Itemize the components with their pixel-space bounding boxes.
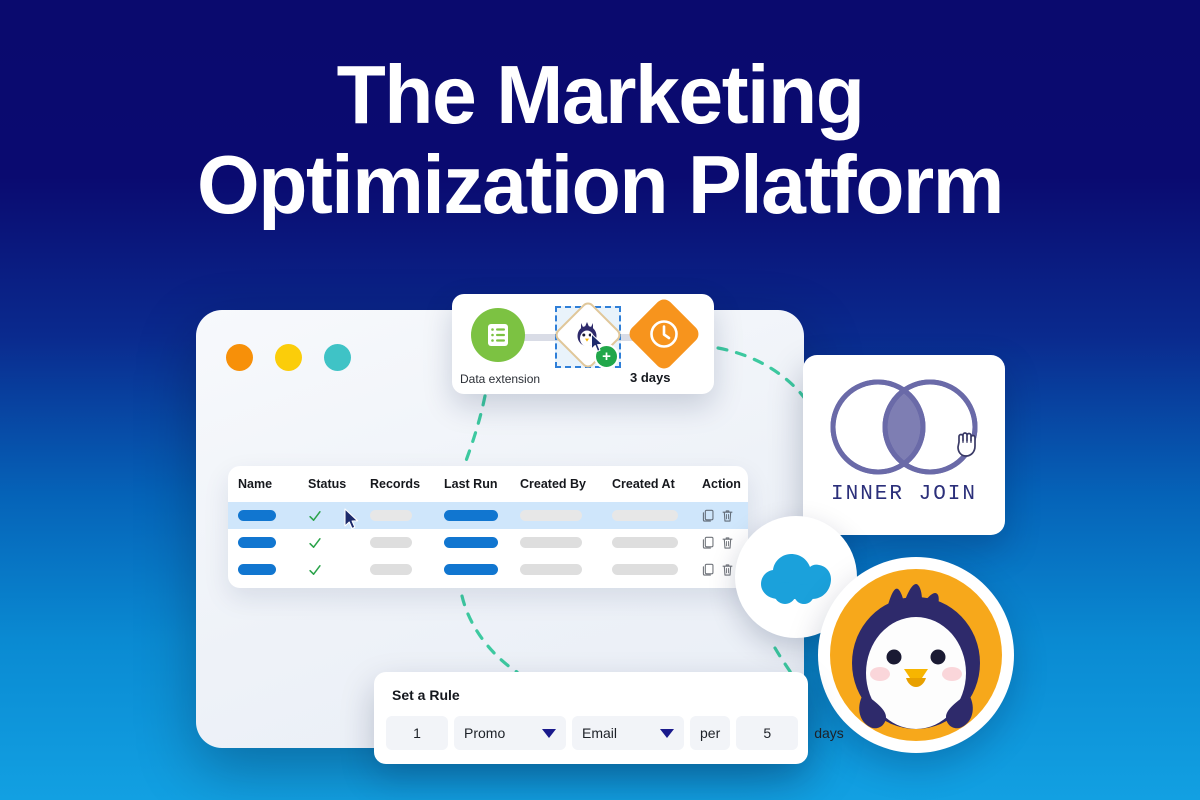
chevron-down-icon (660, 729, 674, 738)
column-header-last-run: Last Run (444, 477, 497, 491)
window-controls (226, 344, 351, 371)
headline-line-1: The Marketing (337, 48, 864, 141)
cell-name-placeholder (238, 510, 276, 521)
rule-title: Set a Rule (392, 687, 460, 703)
rule-type-select[interactable]: Promo (454, 716, 566, 750)
check-icon (308, 509, 322, 523)
rule-channel-value: Email (582, 725, 617, 741)
inner-join-card[interactable]: INNER JOIN (803, 355, 1005, 535)
column-header-status: Status (308, 477, 346, 491)
cell-created-by-placeholder (520, 537, 582, 548)
chevron-down-icon (542, 729, 556, 738)
rule-count-input[interactable]: 1 (386, 716, 448, 750)
list-icon (485, 322, 511, 348)
column-header-created-by: Created By (520, 477, 586, 491)
clock-icon (647, 317, 681, 351)
rule-fields: 1 Promo Email per 5 days (386, 716, 854, 750)
cell-last-run-placeholder (444, 537, 498, 548)
rule-per-label: per (690, 716, 730, 750)
cell-name-placeholder (238, 537, 276, 548)
workflow-card: Data extension + 3 days (452, 294, 714, 394)
cell-records-placeholder (370, 537, 412, 548)
headline-line-2: Optimization Platform (18, 140, 1182, 230)
trash-icon[interactable] (721, 536, 734, 550)
venn-diagram (825, 375, 983, 479)
table-row[interactable] (228, 502, 748, 529)
mouse-cursor-workflow (590, 333, 605, 353)
page-title: The Marketing Optimization Platform (18, 50, 1182, 229)
table-row[interactable] (228, 529, 748, 556)
column-header-records: Records (370, 477, 420, 491)
rule-channel-select[interactable]: Email (572, 716, 684, 750)
cell-name-placeholder (238, 564, 276, 575)
workflow-label-data-extension: Data extension (460, 372, 540, 386)
cell-created-at-placeholder (612, 537, 678, 548)
rule-interval-input[interactable]: 5 (736, 716, 798, 750)
cell-records-placeholder (370, 564, 412, 575)
rule-unit-label: days (804, 716, 854, 750)
cell-created-by-placeholder (520, 510, 582, 521)
rule-type-value: Promo (464, 725, 505, 741)
copy-icon[interactable] (702, 563, 715, 577)
grab-hand-cursor (953, 428, 981, 458)
column-header-created-at: Created At (612, 477, 675, 491)
cell-created-at-placeholder (612, 564, 678, 575)
trash-icon[interactable] (721, 563, 734, 577)
data-table: Name Status Records Last Run Created By … (228, 466, 748, 588)
table-header-row: Name Status Records Last Run Created By … (228, 466, 748, 502)
cell-last-run-placeholder (444, 564, 498, 575)
window-dot-orange[interactable] (226, 344, 253, 371)
check-icon (308, 536, 322, 550)
copy-icon[interactable] (702, 509, 715, 523)
hero-banner: The Marketing Optimization Platform Name… (0, 0, 1200, 800)
workflow-node-data-extension[interactable] (471, 308, 525, 362)
cloud-icon (755, 549, 837, 605)
cell-records-placeholder (370, 510, 412, 521)
cell-created-at-placeholder (612, 510, 678, 521)
trash-icon[interactable] (721, 509, 734, 523)
inner-join-label: INNER JOIN (803, 483, 1005, 506)
check-icon (308, 563, 322, 577)
copy-icon[interactable] (702, 536, 715, 550)
window-dot-teal[interactable] (324, 344, 351, 371)
column-header-name: Name (238, 477, 272, 491)
table-row[interactable] (228, 556, 748, 583)
cell-last-run-placeholder (444, 510, 498, 521)
window-dot-yellow[interactable] (275, 344, 302, 371)
column-header-action: Action (702, 477, 741, 491)
workflow-label-wait: 3 days (630, 370, 670, 385)
cell-created-by-placeholder (520, 564, 582, 575)
set-a-rule-card: Set a Rule 1 Promo Email per 5 days (374, 672, 808, 764)
